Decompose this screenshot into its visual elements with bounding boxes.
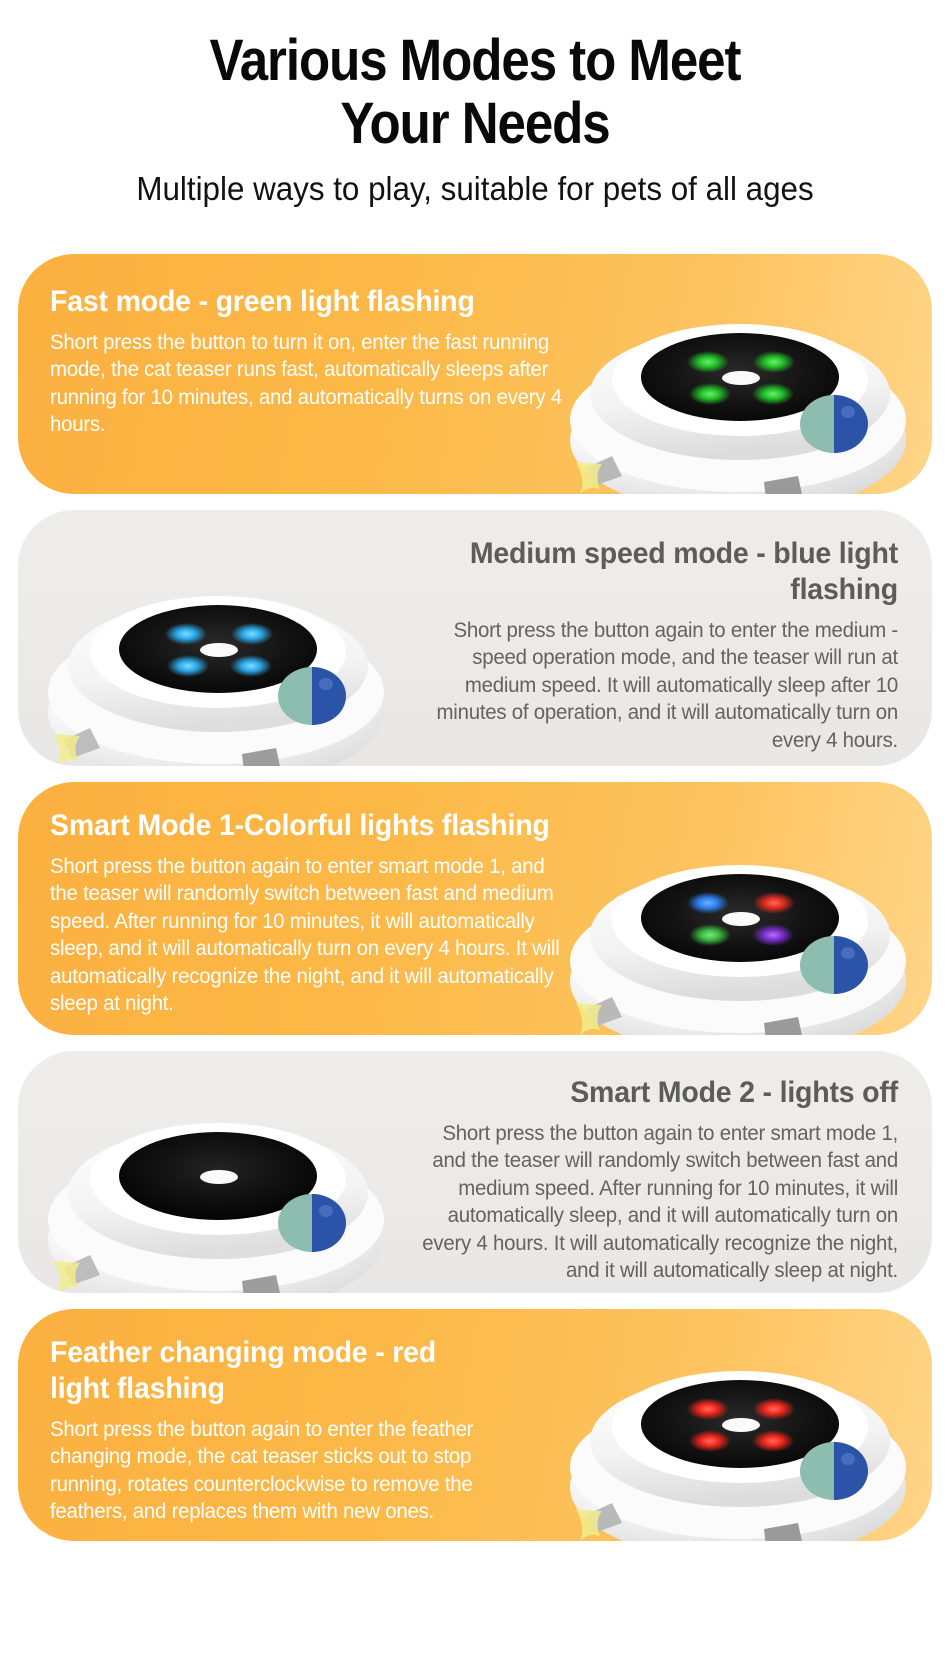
infographic-page: Various Modes to Meet Your Needs Multipl…	[0, 0, 950, 1676]
mode-title: Smart Mode 2 - lights off	[414, 1075, 899, 1111]
led-group	[687, 892, 795, 946]
mode-text-block: Smart Mode 1-Colorful lights flashing Sh…	[50, 808, 595, 1018]
page-title-line-2: Your Needs	[57, 93, 893, 156]
led-group	[165, 623, 273, 677]
mode-body: Short press the button again to enter sm…	[50, 853, 568, 1018]
product-device-image-medium-speed-mode	[36, 516, 396, 766]
mode-body: Short press the button again to enter sm…	[414, 1120, 899, 1285]
mode-body: Short press the button again to enter th…	[50, 1416, 497, 1526]
mode-card-fast-mode: Fast mode - green light flashing Short p…	[18, 254, 932, 494]
mode-card-medium-speed-mode: Medium speed mode - blue light flashing …	[18, 510, 932, 766]
led-group	[687, 351, 795, 405]
led-group	[687, 1398, 795, 1452]
product-device-image-smart-mode-1	[558, 785, 918, 1035]
paddle-icon	[278, 667, 346, 725]
cat-teaser-device-icon	[558, 254, 918, 494]
product-device-image-smart-mode-2	[36, 1051, 396, 1293]
cat-teaser-device-icon	[36, 516, 396, 766]
paddle-icon	[800, 936, 868, 994]
mode-text-block: Medium speed mode - blue light flashing …	[398, 536, 898, 755]
mode-title: Feather changing mode - red light flashi…	[50, 1335, 497, 1407]
page-subtitle: Multiple ways to play, suitable for pets…	[24, 171, 927, 207]
mode-card-list: Fast mode - green light flashing Short p…	[0, 254, 950, 1541]
mode-body: Short press the button again to enter th…	[423, 617, 898, 755]
product-device-image-fast-mode	[558, 254, 918, 494]
paddle-icon	[800, 395, 868, 453]
cat-teaser-device-icon	[558, 1309, 918, 1541]
mode-title: Smart Mode 1-Colorful lights flashing	[50, 808, 568, 844]
page-title-line-1: Various Modes to Meet	[57, 30, 893, 93]
mode-body: Short press the button to turn it on, en…	[50, 329, 568, 439]
paddle-icon	[800, 1442, 868, 1500]
mode-title: Medium speed mode - blue light flashing	[423, 536, 898, 608]
header: Various Modes to Meet Your Needs Multipl…	[0, 0, 950, 208]
mode-card-smart-mode-1: Smart Mode 1-Colorful lights flashing Sh…	[18, 782, 932, 1035]
product-device-image-feather-changing-mode	[558, 1309, 918, 1541]
mode-text-block: Feather changing mode - red light flashi…	[50, 1335, 520, 1526]
mode-card-feather-changing-mode: Feather changing mode - red light flashi…	[18, 1309, 932, 1541]
mode-card-smart-mode-2: Smart Mode 2 - lights off Short press th…	[18, 1051, 932, 1293]
cat-teaser-device-icon	[558, 785, 918, 1035]
mode-text-block: Fast mode - green light flashing Short p…	[50, 284, 595, 439]
paddle-icon	[278, 1194, 346, 1252]
mode-text-block: Smart Mode 2 - lights off Short press th…	[388, 1075, 898, 1285]
page-title: Various Modes to Meet Your Needs	[57, 30, 893, 155]
mode-title: Fast mode - green light flashing	[50, 284, 568, 320]
cat-teaser-device-icon	[36, 1051, 396, 1293]
